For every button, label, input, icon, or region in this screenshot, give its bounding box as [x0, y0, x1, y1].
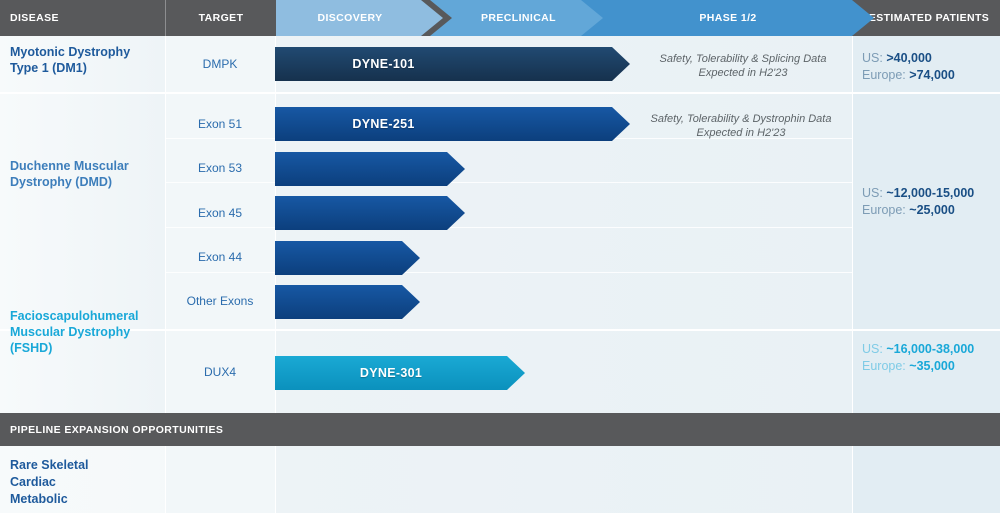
annotation-dyne-251-line2: Expected in H2'23 [630, 126, 852, 140]
patients-dmd-europe-value: ~25,000 [909, 203, 955, 217]
target-label-other-exons: Other Exons [165, 294, 275, 308]
annotation-dyne-251: Safety, Tolerability & Dystrophin Data E… [630, 112, 852, 140]
row-divider [165, 227, 852, 228]
disease-dmd-line2: Dystrophy (DMD) [10, 174, 160, 190]
patients-fshd-us-value: ~16,000-38,000 [886, 342, 974, 356]
patients-dm1-europe-label: Europe: [862, 68, 909, 82]
target-label-exon53: Exon 53 [165, 161, 275, 175]
disease-fshd-line3: (FSHD) [10, 340, 160, 356]
target-label-exon44: Exon 44 [165, 250, 275, 264]
patients-fshd-us: US: ~16,000-38,000 [862, 341, 994, 358]
header-stage-discovery: DISCOVERY [275, 0, 443, 36]
patients-dmd-europe: Europe: ~25,000 [862, 202, 994, 219]
patients-fshd-europe-value: ~35,000 [909, 359, 955, 373]
header-disease: DISEASE [0, 0, 165, 36]
pipeline-expansion-banner: PIPELINE EXPANSION OPPORTUNITIES [0, 413, 1000, 446]
pipeline-chart: DISEASE TARGET PHASE 1/2 PRECLINICAL DIS… [0, 0, 1000, 513]
program-bar-dyne-251[interactable]: DYNE-251 [275, 107, 630, 141]
program-bar-exon-44[interactable] [275, 241, 420, 275]
disease-dm1-line2: Type 1 (DM1) [10, 60, 160, 76]
program-bar-dyne-101-label: DYNE-101 [352, 57, 432, 71]
header-estimated-patients: ESTIMATED PATIENTS [852, 0, 1000, 36]
row-divider [165, 182, 852, 183]
program-bar-dyne-251-label: DYNE-251 [352, 117, 432, 131]
program-bar-exon-45[interactable] [275, 196, 465, 230]
patients-dmd-us-label: US: [862, 186, 886, 200]
program-bar-dyne-301-label: DYNE-301 [360, 366, 440, 380]
disease-group-divider [0, 92, 1000, 94]
header-stage-preclinical: PRECLINICAL [430, 0, 603, 36]
program-bar-other-exons[interactable] [275, 285, 420, 319]
disease-fshd-line1: Facioscapulohumeral [10, 308, 160, 324]
disease-fshd-line2: Muscular Dystrophy [10, 324, 160, 340]
disease-dm1-line1: Myotonic Dystrophy [10, 44, 160, 60]
patients-fshd-europe: Europe: ~35,000 [862, 358, 994, 375]
header-stage-phase12: PHASE 1/2 [580, 0, 874, 36]
patients-dmd-us: US: ~12,000-15,000 [862, 185, 994, 202]
patients-dmd-europe-label: Europe: [862, 203, 909, 217]
program-bar-dyne-101[interactable]: DYNE-101 [275, 47, 630, 81]
header-target: TARGET [165, 0, 276, 36]
disease-label-dm1: Myotonic Dystrophy Type 1 (DM1) [10, 44, 160, 76]
target-label-dmpk: DMPK [165, 57, 275, 71]
disease-label-dmd: Duchenne Muscular Dystrophy (DMD) [10, 158, 160, 190]
annotation-dyne-101: Safety, Tolerability & Splicing Data Exp… [636, 52, 850, 80]
expansion-patients-column [852, 446, 1000, 513]
expansion-item-rare-skeletal: Rare Skeletal [10, 457, 160, 474]
pipeline-header-row: DISEASE TARGET PHASE 1/2 PRECLINICAL DIS… [0, 0, 1000, 36]
target-label-exon45: Exon 45 [165, 206, 275, 220]
expansion-stages-column [275, 446, 853, 513]
expansion-item-cardiac: Cardiac [10, 474, 160, 491]
annotation-dyne-101-line2: Expected in H2'23 [636, 66, 850, 80]
patients-fshd-europe-label: Europe: [862, 359, 909, 373]
disease-dmd-line1: Duchenne Muscular [10, 158, 160, 174]
annotation-dyne-101-line1: Safety, Tolerability & Splicing Data [636, 52, 850, 66]
patients-estimate-dm1: US: >40,000 Europe: >74,000 [862, 50, 994, 84]
patients-fshd-us-label: US: [862, 342, 886, 356]
pipeline-expansion-body: Rare Skeletal Cardiac Metabolic [0, 446, 1000, 513]
pipeline-expansion-banner-label: PIPELINE EXPANSION OPPORTUNITIES [10, 424, 223, 436]
patients-estimate-dmd: US: ~12,000-15,000 Europe: ~25,000 [862, 185, 994, 219]
patients-dm1-us-value: >40,000 [886, 51, 932, 65]
patients-dm1-europe: Europe: >74,000 [862, 67, 994, 84]
disease-label-fshd: Facioscapulohumeral Muscular Dystrophy (… [10, 308, 160, 356]
patients-dmd-us-value: ~12,000-15,000 [886, 186, 974, 200]
patients-dm1-us: US: >40,000 [862, 50, 994, 67]
patients-dm1-us-label: US: [862, 51, 886, 65]
program-bar-dyne-301[interactable]: DYNE-301 [275, 356, 525, 390]
target-label-exon51: Exon 51 [165, 117, 275, 131]
patients-estimate-fshd: US: ~16,000-38,000 Europe: ~35,000 [862, 341, 994, 375]
expansion-item-metabolic: Metabolic [10, 491, 160, 508]
program-bar-exon-53[interactable] [275, 152, 465, 186]
patients-dm1-europe-value: >74,000 [909, 68, 955, 82]
row-divider [165, 272, 852, 273]
annotation-dyne-251-line1: Safety, Tolerability & Dystrophin Data [630, 112, 852, 126]
expansion-target-column [165, 446, 276, 513]
expansion-opportunity-list: Rare Skeletal Cardiac Metabolic [10, 457, 160, 508]
target-label-dux4: DUX4 [165, 365, 275, 379]
